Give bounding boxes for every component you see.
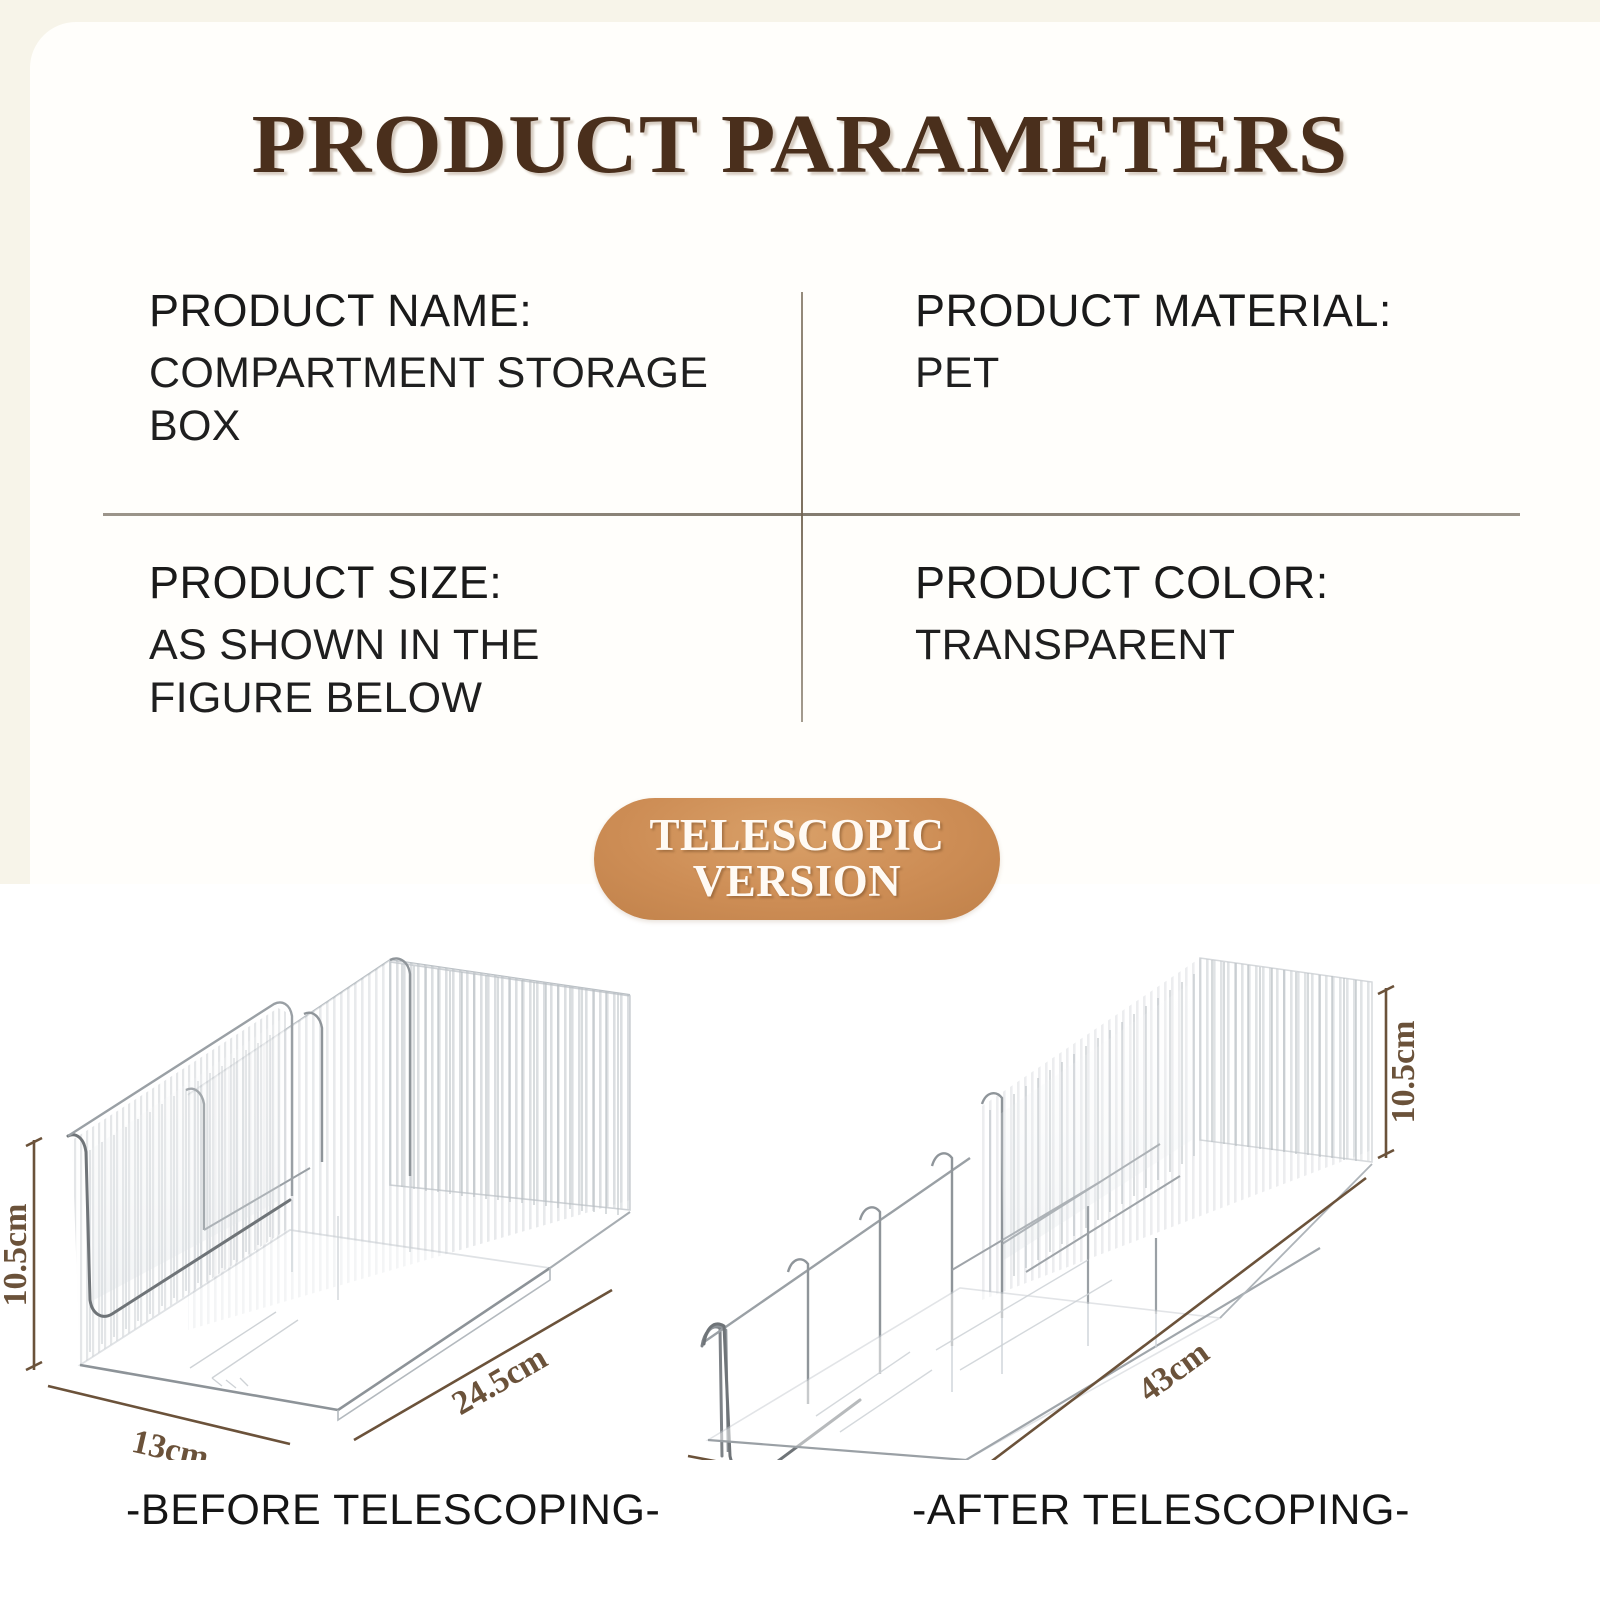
dimension-length-left: 24.5cm bbox=[446, 1339, 554, 1423]
product-figure-before-telescoping: 10.5cm 13cm 24.5cm bbox=[0, 900, 670, 1460]
box-body-extended bbox=[702, 958, 1372, 1460]
caption-after-telescoping: -AFTER TELESCOPING- bbox=[912, 1486, 1410, 1535]
box-body-collapsed bbox=[68, 959, 630, 1420]
param-cell-product-color: PRODUCT COLOR: TRANSPARENT bbox=[915, 556, 1515, 672]
dimension-height-left: 10.5cm bbox=[0, 1204, 34, 1307]
vertical-divider bbox=[801, 292, 803, 722]
param-value-product-material: PET bbox=[915, 347, 1475, 399]
param-key-product-size: PRODUCT SIZE: bbox=[149, 556, 749, 609]
param-key-product-name: PRODUCT NAME: bbox=[149, 284, 749, 337]
param-key-product-color: PRODUCT COLOR: bbox=[915, 556, 1515, 609]
caption-before-telescoping: -BEFORE TELESCOPING- bbox=[126, 1486, 660, 1535]
param-value-product-color: TRANSPARENT bbox=[915, 619, 1475, 671]
param-cell-product-material: PRODUCT MATERIAL: PET bbox=[915, 284, 1515, 400]
page-title: PRODUCT PARAMETERS bbox=[0, 96, 1600, 193]
dimension-height-right: 10.5cm bbox=[1385, 1021, 1422, 1124]
badge-line-1: TELESCOPIC bbox=[649, 813, 944, 859]
param-value-product-size: AS SHOWN IN THE FIGURE BELOW bbox=[149, 619, 709, 724]
dimension-width-left: 13cm bbox=[128, 1423, 212, 1460]
param-key-product-material: PRODUCT MATERIAL: bbox=[915, 284, 1515, 337]
param-cell-product-size: PRODUCT SIZE: AS SHOWN IN THE FIGURE BEL… bbox=[149, 556, 749, 724]
product-figure-after-telescoping: 10.5cm 43cm 13cm bbox=[660, 900, 1600, 1460]
horizontal-divider bbox=[103, 513, 1520, 516]
badge-line-2: VERSION bbox=[693, 859, 902, 905]
param-value-product-name: COMPARTMENT STORAGE BOX bbox=[149, 347, 709, 452]
parameter-grid: PRODUCT NAME: COMPARTMENT STORAGE BOX PR… bbox=[103, 278, 1520, 738]
param-cell-product-name: PRODUCT NAME: COMPARTMENT STORAGE BOX bbox=[149, 284, 749, 452]
